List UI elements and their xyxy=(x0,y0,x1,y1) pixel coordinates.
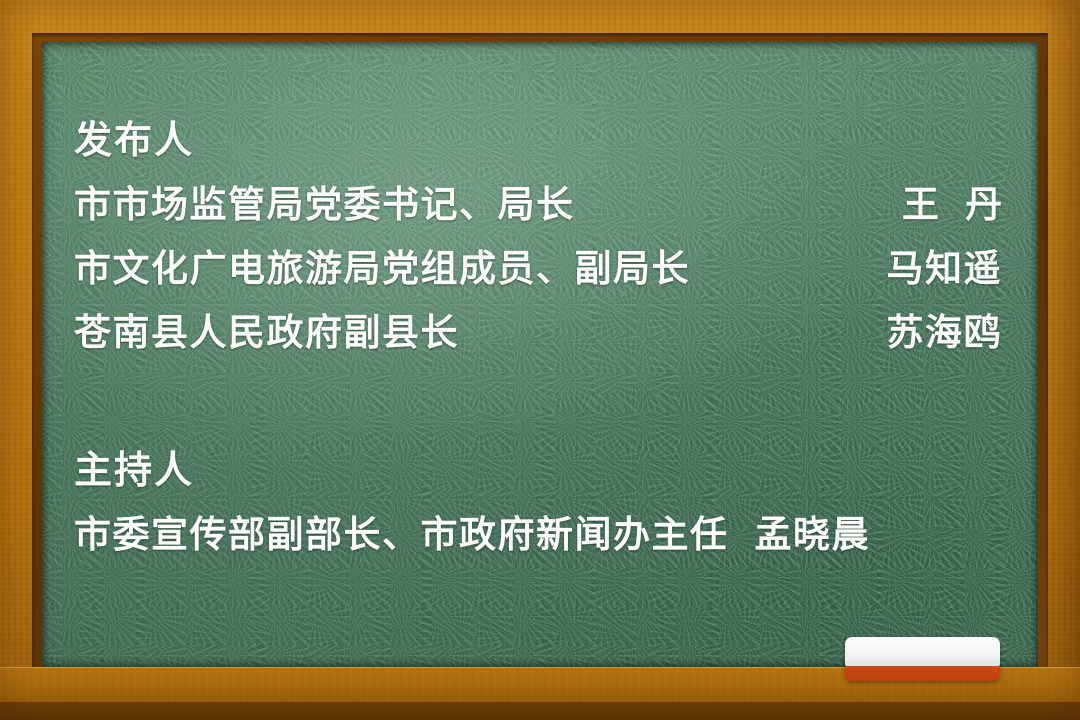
speaker-title: 市市场监管局党委书记、局长 xyxy=(74,186,575,223)
speaker-name: 马知遥 xyxy=(887,250,1003,287)
blackboard-eraser-icon[interactable] xyxy=(845,637,1000,681)
host-row: 市委宣传部副部长、市政府新闻办主任孟晓晨 xyxy=(74,516,1002,553)
eraser-body xyxy=(845,666,1000,681)
board-content: 发布人 市市场监管局党委书记、局长 王丹 市文化广电旅游局党组成员、副局长 马知… xyxy=(74,122,1002,553)
section-spacer xyxy=(74,378,1002,452)
host-title: 市委宣传部副部长、市政府新闻办主任 xyxy=(74,514,729,555)
chalkboard-surface: 发布人 市市场监管局党委书记、局长 王丹 市文化广电旅游局党组成员、副局长 马知… xyxy=(42,42,1038,667)
speaker-name: 苏海鸥 xyxy=(887,314,1003,351)
eraser-felt xyxy=(845,637,1000,666)
speaker-title: 苍南县人民政府副县长 xyxy=(74,314,459,351)
ledge-under-shadow xyxy=(0,702,1080,720)
speaker-row: 市文化广电旅游局党组成员、副局长 马知遥 xyxy=(74,250,1002,287)
host-heading: 主持人 xyxy=(74,452,1002,490)
speaker-name: 王丹 xyxy=(902,186,1028,223)
chalkboard-slide: 发布人 市市场监管局党委书记、局长 王丹 市文化广电旅游局党组成员、副局长 马知… xyxy=(0,0,1080,720)
speaker-row: 市市场监管局党委书记、局长 王丹 xyxy=(74,186,1002,223)
speakers-heading: 发布人 xyxy=(74,122,1002,160)
host-name: 孟晓晨 xyxy=(755,514,871,555)
speaker-row: 苍南县人民政府副县长 苏海鸥 xyxy=(74,314,1002,351)
speaker-title: 市文化广电旅游局党组成员、副局长 xyxy=(74,250,690,287)
